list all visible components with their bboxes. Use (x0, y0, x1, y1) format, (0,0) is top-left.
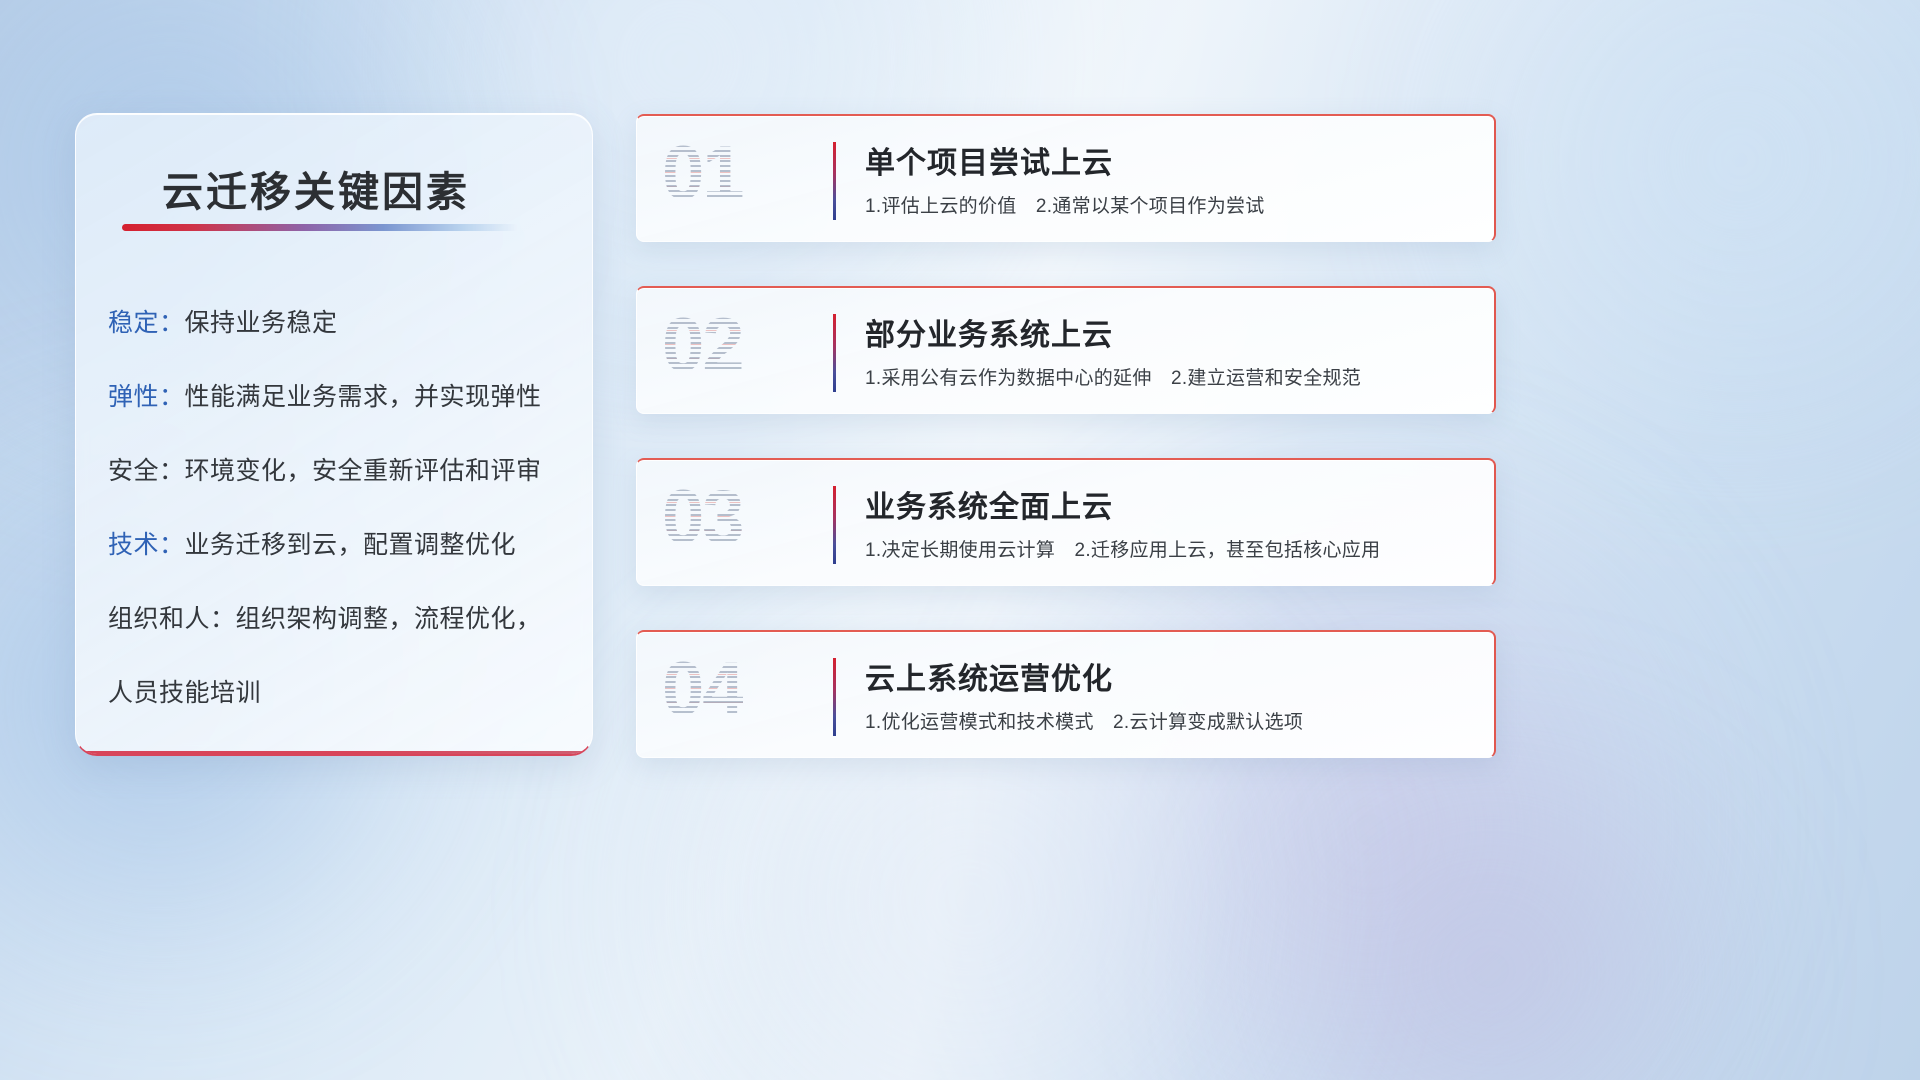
title-underline-gradient (122, 224, 518, 231)
step-number: 02 (662, 302, 743, 389)
key-factor-label: 安全： (108, 457, 185, 485)
step-description: 1.决定长期使用云计算 2.迁移应用上云，甚至包括核心应用 (865, 535, 1380, 562)
key-factor-text: 人员技能培训 (108, 679, 261, 707)
migration-step-card[interactable]: 0404云上系统运营优化1.优化运营模式和技术模式 2.云计算变成默认选项 (636, 630, 1496, 758)
step-accent-bar (833, 314, 836, 392)
step-accent-bar (833, 486, 836, 564)
step-number-graphic: 0303 (637, 460, 837, 586)
step-number: 03 (662, 474, 743, 561)
key-factor-row: 组织和人：组织架构调整，流程优化， (108, 607, 572, 632)
key-factor-label: 技术： (108, 531, 185, 559)
key-factor-text: 环境变化，安全重新评估和评审 (185, 457, 542, 485)
step-number-graphic: 0202 (637, 288, 837, 414)
step-description: 1.评估上云的价值 2.通常以某个项目作为尝试 (865, 191, 1265, 218)
migration-step-card[interactable]: 0303业务系统全面上云1.决定长期使用云计算 2.迁移应用上云，甚至包括核心应… (636, 458, 1496, 586)
key-factor-text: 保持业务稳定 (185, 309, 338, 337)
key-factor-text: 业务迁移到云，配置调整优化 (185, 531, 517, 559)
key-factor-text: 性能满足业务需求，并实现弹性 (185, 383, 542, 411)
step-number-graphic: 0101 (637, 116, 837, 242)
key-factor-row: 技术：业务迁移到云，配置调整优化 (108, 533, 572, 558)
step-title: 单个项目尝试上云 (865, 138, 1113, 182)
key-factor-row: 安全：环境变化，安全重新评估和评审 (108, 459, 572, 484)
step-description: 1.采用公有云作为数据中心的延伸 2.建立运营和安全规范 (865, 363, 1361, 390)
migration-step-card[interactable]: 0101单个项目尝试上云1.评估上云的价值 2.通常以某个项目作为尝试 (636, 114, 1496, 242)
key-factor-text: 组织架构调整，流程优化， (236, 605, 542, 633)
key-factor-row: 弹性：性能满足业务需求，并实现弹性 (108, 385, 572, 410)
step-number: 01 (662, 130, 743, 217)
key-factors-panel: 云迁移关键因素 稳定：保持业务稳定弹性：性能满足业务需求，并实现弹性安全：环境变… (75, 113, 593, 756)
step-title: 业务系统全面上云 (865, 482, 1113, 526)
key-factor-label: 稳定： (108, 309, 185, 337)
step-description: 1.优化运营模式和技术模式 2.云计算变成默认选项 (865, 707, 1303, 734)
step-number-graphic: 0404 (637, 632, 837, 758)
step-accent-bar (833, 658, 836, 736)
step-number: 04 (662, 646, 743, 733)
migration-step-card[interactable]: 0202部分业务系统上云1.采用公有云作为数据中心的延伸 2.建立运营和安全规范 (636, 286, 1496, 414)
key-factor-label: 组织和人： (108, 605, 236, 633)
key-factor-row: 人员技能培训 (108, 681, 572, 706)
step-title: 部分业务系统上云 (865, 310, 1113, 354)
page-title: 云迁移关键因素 (162, 158, 470, 218)
key-factors-list: 稳定：保持业务稳定弹性：性能满足业务需求，并实现弹性安全：环境变化，安全重新评估… (108, 311, 572, 706)
step-title: 云上系统运营优化 (865, 654, 1113, 698)
key-factor-label: 弹性： (108, 383, 185, 411)
step-accent-bar (833, 142, 836, 220)
migration-steps-list: 0101单个项目尝试上云1.评估上云的价值 2.通常以某个项目作为尝试0202部… (636, 114, 1496, 758)
key-factor-row: 稳定：保持业务稳定 (108, 311, 572, 336)
